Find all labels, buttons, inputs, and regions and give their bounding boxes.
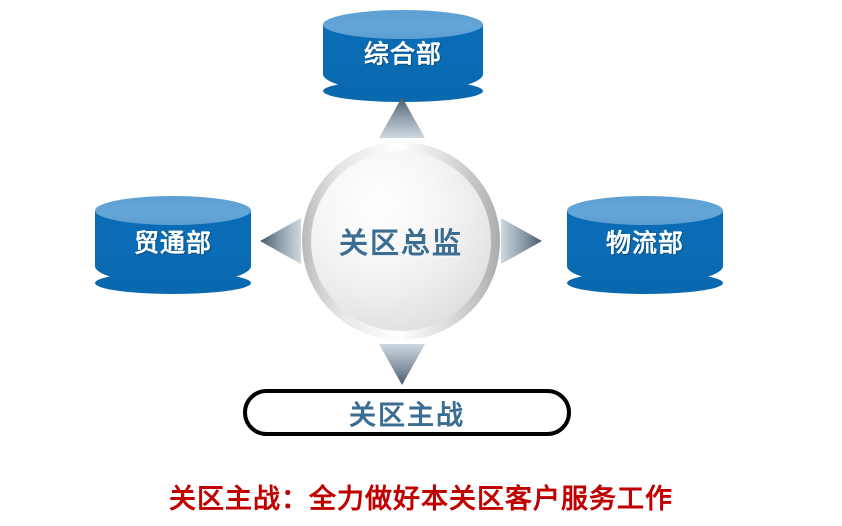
- node-cylinder-right[interactable]: 物流部: [567, 196, 723, 284]
- node-label-top: 综合部: [323, 34, 483, 70]
- bottom-node-pill[interactable]: 关区主战: [243, 389, 571, 436]
- arrow-right-icon: [500, 217, 544, 265]
- cylinder-top-ellipse: [567, 196, 723, 225]
- arrow-down-icon: [378, 343, 426, 387]
- node-cylinder-top[interactable]: 综合部: [323, 10, 483, 92]
- diagram-caption: 关区主战：全力做好本关区客户服务工作: [0, 477, 842, 516]
- center-node-sphere[interactable]: 关区总监: [302, 142, 500, 340]
- center-node-label: 关区总监: [302, 220, 500, 262]
- diagram-canvas: 综合部 贸通部 物流部: [0, 0, 842, 526]
- node-label-left: 贸通部: [95, 223, 251, 259]
- arrow-left-icon: [258, 217, 302, 265]
- node-cylinder-left[interactable]: 贸通部: [95, 196, 251, 284]
- arrow-up-icon: [378, 95, 426, 139]
- bottom-node-label: 关区主战: [247, 393, 567, 432]
- node-label-right: 物流部: [567, 223, 723, 259]
- cylinder-top-ellipse: [95, 196, 251, 225]
